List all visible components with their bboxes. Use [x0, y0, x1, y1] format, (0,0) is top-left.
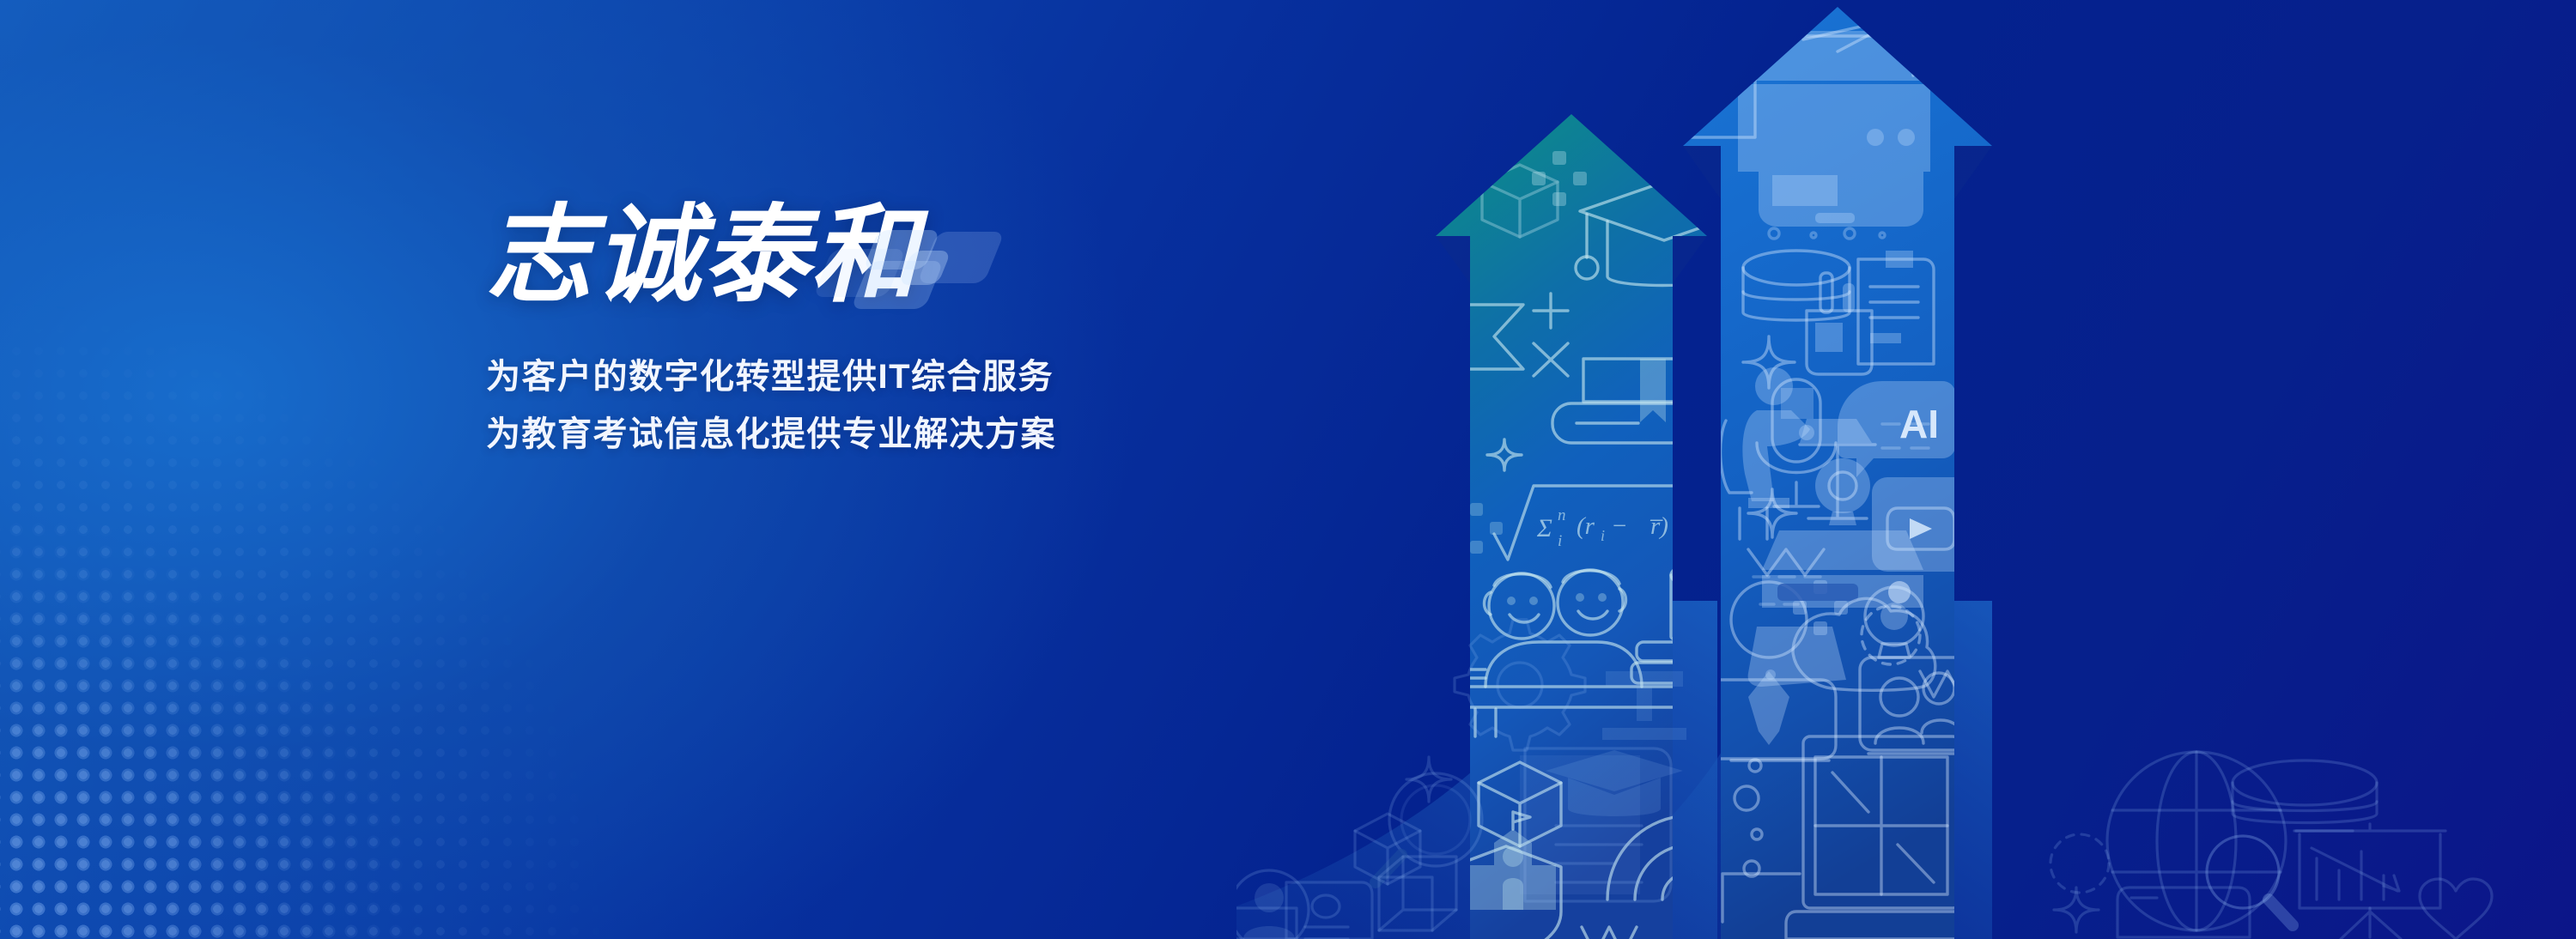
svg-text:n: n: [1707, 536, 1717, 558]
it-services-arrow: AI: [1683, 7, 1992, 939]
subtitle-line-1: 为客户的数字化转型提供IT综合服务: [486, 348, 1056, 406]
svg-text:(r: (r: [1577, 512, 1595, 540]
globe-cluster: [2050, 752, 2492, 939]
parallelogram-logo: [823, 223, 986, 306]
svg-text:r̅): r̅): [1650, 512, 1668, 540]
title-row: 志诚泰和: [486, 203, 1056, 309]
globe-search-icon: [2107, 752, 2293, 930]
subtitle-group: 为客户的数字化转型提供IT综合服务 为教育考试信息化提供专业解决方案: [486, 348, 1056, 463]
hero-text-block: 志诚泰和 为客户的数字化转型提供IT综合服务 为教育考试信息化提供专业解决方案: [486, 203, 1056, 463]
subtitle-line-2: 为教育考试信息化提供专业解决方案: [486, 406, 1056, 463]
svg-text:2: 2: [1678, 506, 1686, 524]
hero-banner: Σ i n (r i − r̅) 2 n: [0, 0, 2576, 939]
svg-text:−: −: [1611, 512, 1628, 540]
svg-text:n: n: [1558, 506, 1566, 524]
svg-text:AI: AI: [1899, 402, 1939, 446]
arrow-artwork: Σ i n (r i − r̅) 2 n: [1236, 0, 2576, 939]
svg-text:i: i: [1601, 527, 1605, 544]
monitor-window-icon: [1786, 736, 1977, 939]
printer-icon: [1738, 17, 1930, 227]
dotted-circle-icon: [2050, 834, 2109, 893]
svg-text:i: i: [1558, 532, 1562, 550]
database-icon: [2233, 760, 2377, 823]
presentation-chart-icon: [2294, 824, 2445, 939]
sparkle-icon: [2054, 888, 2099, 932]
svg-text:Σ: Σ: [1536, 514, 1552, 542]
